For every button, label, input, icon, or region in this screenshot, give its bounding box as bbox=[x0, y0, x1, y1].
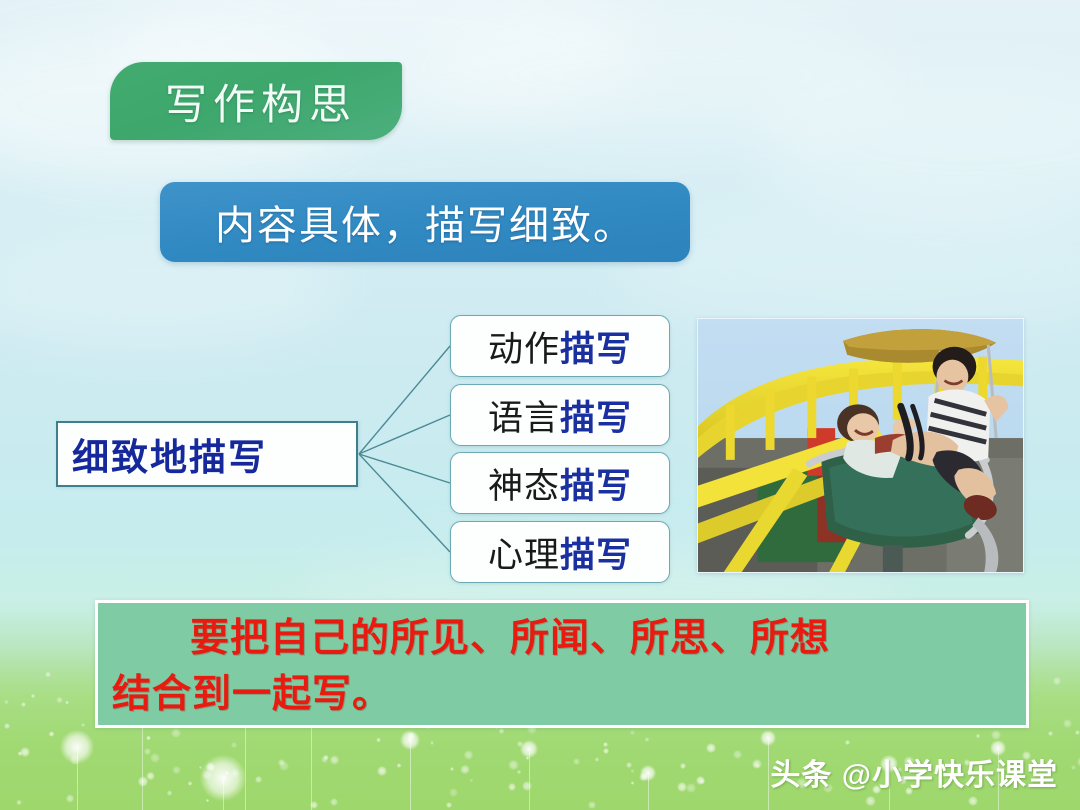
roller-coaster-photo bbox=[697, 318, 1024, 573]
slide-canvas: 写作构思 内容具体，描写细致。 细致地描写 动作描写 语言描写 神态描写 心理描… bbox=[0, 0, 1080, 810]
item-prefix: 神态 bbox=[488, 467, 560, 506]
statement-text: 内容具体，描写细致。 bbox=[215, 193, 635, 251]
item-label: 神态描写 bbox=[488, 458, 632, 509]
summary-line-1: 要把自己的所见、所闻、所思、所想 bbox=[112, 611, 1012, 667]
page-title: 写作构思 bbox=[155, 71, 357, 132]
item-box-language: 语言描写 bbox=[450, 384, 670, 446]
item-box-psychology: 心理描写 bbox=[450, 521, 670, 583]
item-prefix: 心理 bbox=[488, 536, 560, 575]
summary-line-2: 结合到一起写。 bbox=[112, 667, 1012, 723]
item-prefix: 动作 bbox=[488, 330, 560, 369]
title-banner: 写作构思 bbox=[110, 62, 402, 140]
concept-box: 细致地描写 bbox=[56, 421, 358, 487]
statement-banner: 内容具体，描写细致。 bbox=[160, 182, 690, 262]
item-suffix: 描写 bbox=[560, 330, 632, 369]
item-suffix: 描写 bbox=[560, 467, 632, 506]
item-suffix: 描写 bbox=[560, 399, 632, 438]
item-box-expression: 神态描写 bbox=[450, 452, 670, 514]
item-label: 动作描写 bbox=[488, 321, 632, 372]
summary-box: 要把自己的所见、所闻、所思、所想 结合到一起写。 bbox=[95, 600, 1029, 728]
watermark: 头条 @小学快乐课堂 bbox=[770, 750, 1058, 794]
item-prefix: 语言 bbox=[488, 399, 560, 438]
cloud-wisp-icon bbox=[760, 70, 1080, 220]
item-suffix: 描写 bbox=[560, 536, 632, 575]
concept-label: 细致地描写 bbox=[58, 427, 267, 481]
item-box-action: 动作描写 bbox=[450, 315, 670, 377]
cloud-wisp-icon bbox=[420, 10, 900, 140]
item-label: 语言描写 bbox=[488, 390, 632, 441]
item-label: 心理描写 bbox=[488, 527, 632, 578]
